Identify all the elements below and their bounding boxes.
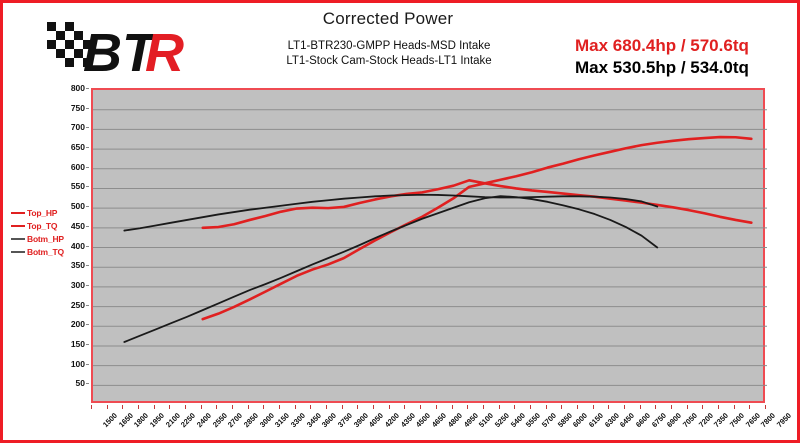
x-tick-mark bbox=[420, 405, 421, 409]
x-tick-mark bbox=[749, 405, 750, 409]
x-tick-mark bbox=[655, 405, 656, 409]
plot-area bbox=[91, 88, 765, 403]
x-tick-mark bbox=[530, 405, 531, 409]
x-tick-label: 3300 bbox=[289, 411, 307, 429]
x-tick-mark bbox=[452, 405, 453, 409]
x-tick-label: 2400 bbox=[195, 411, 213, 429]
x-tick-label: 2700 bbox=[226, 411, 244, 429]
subtitle-line-1: LT1-BTR230-GMPP Heads-MSD Intake bbox=[249, 39, 529, 54]
x-tick-label: 5850 bbox=[555, 411, 573, 429]
x-tick-label: 7050 bbox=[681, 411, 699, 429]
x-tick-label: 6450 bbox=[618, 411, 636, 429]
x-tick-label: 4350 bbox=[399, 411, 417, 429]
y-tick-label: 200 bbox=[71, 319, 85, 329]
x-tick-mark bbox=[561, 405, 562, 409]
x-tick-label: 7950 bbox=[775, 411, 793, 429]
series-botm_tq bbox=[124, 195, 657, 231]
x-axis: 1500165018001950210022502400255027002850… bbox=[91, 405, 765, 443]
x-tick-label: 1950 bbox=[148, 411, 166, 429]
y-tick-mark bbox=[86, 364, 89, 365]
x-tick-mark bbox=[91, 405, 92, 409]
x-tick-label: 6300 bbox=[602, 411, 620, 429]
y-tick-mark bbox=[86, 88, 89, 89]
x-tick-mark bbox=[404, 405, 405, 409]
x-tick-mark bbox=[640, 405, 641, 409]
x-tick-mark bbox=[169, 405, 170, 409]
x-tick-label: 5400 bbox=[508, 411, 526, 429]
x-tick-mark bbox=[138, 405, 139, 409]
x-tick-mark bbox=[357, 405, 358, 409]
x-tick-mark bbox=[546, 405, 547, 409]
y-tick-mark bbox=[86, 167, 89, 168]
x-tick-label: 7200 bbox=[697, 411, 715, 429]
x-tick-label: 1650 bbox=[117, 411, 135, 429]
chart-subtitle: LT1-BTR230-GMPP Heads-MSD Intake LT1-Sto… bbox=[249, 39, 529, 69]
x-tick-label: 5100 bbox=[477, 411, 495, 429]
x-tick-label: 6750 bbox=[649, 411, 667, 429]
max-readouts: Max 680.4hp / 570.6tq Max 530.5hp / 534.… bbox=[575, 35, 749, 79]
legend-swatch-top-tq bbox=[11, 225, 25, 227]
y-tick-label: 400 bbox=[71, 241, 85, 251]
x-tick-mark bbox=[687, 405, 688, 409]
x-tick-label: 4200 bbox=[383, 411, 401, 429]
legend-swatch-botm-tq bbox=[11, 251, 25, 253]
series-botm_hp bbox=[124, 196, 657, 342]
y-tick-label: 500 bbox=[71, 201, 85, 211]
x-tick-mark bbox=[718, 405, 719, 409]
x-tick-label: 3450 bbox=[305, 411, 323, 429]
x-tick-mark bbox=[248, 405, 249, 409]
x-tick-mark bbox=[593, 405, 594, 409]
x-tick-label: 4800 bbox=[446, 411, 464, 429]
x-tick-label: 6600 bbox=[634, 411, 652, 429]
x-tick-mark bbox=[107, 405, 108, 409]
plot-frame bbox=[91, 88, 765, 403]
x-tick-label: 2100 bbox=[164, 411, 182, 429]
x-tick-label: 5550 bbox=[524, 411, 542, 429]
x-tick-mark bbox=[310, 405, 311, 409]
data-curves bbox=[93, 90, 767, 405]
y-tick-label: 600 bbox=[71, 162, 85, 172]
x-tick-label: 6150 bbox=[587, 411, 605, 429]
x-tick-label: 5700 bbox=[540, 411, 558, 429]
x-tick-mark bbox=[326, 405, 327, 409]
x-tick-mark bbox=[734, 405, 735, 409]
x-tick-mark bbox=[295, 405, 296, 409]
y-tick-label: 100 bbox=[71, 359, 85, 369]
y-tick-mark bbox=[86, 383, 89, 384]
y-tick-label: 550 bbox=[71, 181, 85, 191]
x-tick-label: 1500 bbox=[101, 411, 119, 429]
x-tick-mark bbox=[483, 405, 484, 409]
y-tick-label: 250 bbox=[71, 300, 85, 310]
legend-label-top-hp: Top_HP bbox=[27, 208, 57, 218]
x-tick-mark bbox=[389, 405, 390, 409]
x-tick-label: 6900 bbox=[665, 411, 683, 429]
x-tick-label: 4500 bbox=[414, 411, 432, 429]
y-tick-mark bbox=[86, 127, 89, 128]
dyno-chart-page: BT R Corrected Power LT1-BTR230-GMPP Hea… bbox=[0, 0, 800, 443]
y-tick-label: 650 bbox=[71, 142, 85, 152]
x-tick-label: 4050 bbox=[367, 411, 385, 429]
x-tick-mark bbox=[185, 405, 186, 409]
legend-swatch-top-hp bbox=[11, 212, 25, 214]
x-tick-mark bbox=[373, 405, 374, 409]
y-tick-label: 450 bbox=[71, 221, 85, 231]
x-tick-label: 1800 bbox=[132, 411, 150, 429]
x-tick-label: 2250 bbox=[179, 411, 197, 429]
x-tick-label: 4950 bbox=[461, 411, 479, 429]
y-tick-label: 300 bbox=[71, 280, 85, 290]
y-tick-mark bbox=[86, 324, 89, 325]
y-tick-label: 350 bbox=[71, 260, 85, 270]
x-tick-mark bbox=[608, 405, 609, 409]
x-tick-mark bbox=[577, 405, 578, 409]
y-tick-label: 700 bbox=[71, 122, 85, 132]
x-tick-label: 7350 bbox=[712, 411, 730, 429]
y-tick-mark bbox=[86, 226, 89, 227]
y-tick-mark bbox=[86, 147, 89, 148]
x-tick-label: 3750 bbox=[336, 411, 354, 429]
x-tick-label: 7500 bbox=[728, 411, 746, 429]
y-tick-label: 750 bbox=[71, 103, 85, 113]
x-tick-mark bbox=[279, 405, 280, 409]
x-tick-mark bbox=[499, 405, 500, 409]
x-tick-mark bbox=[122, 405, 123, 409]
x-tick-label: 6000 bbox=[571, 411, 589, 429]
max-bottom-readout: Max 530.5hp / 534.0tq bbox=[575, 57, 749, 79]
series-top_hp bbox=[203, 137, 752, 319]
x-tick-label: 4650 bbox=[430, 411, 448, 429]
x-tick-mark bbox=[201, 405, 202, 409]
btr-logo-graphic: BT R bbox=[41, 13, 189, 81]
x-tick-label: 7800 bbox=[759, 411, 777, 429]
x-tick-label: 7650 bbox=[744, 411, 762, 429]
x-tick-label: 5250 bbox=[493, 411, 511, 429]
y-tick-mark bbox=[86, 344, 89, 345]
y-tick-label: 800 bbox=[71, 83, 85, 93]
x-tick-mark bbox=[342, 405, 343, 409]
legend-label-top-tq: Top_TQ bbox=[27, 221, 57, 231]
x-tick-label: 2850 bbox=[242, 411, 260, 429]
y-tick-mark bbox=[86, 108, 89, 109]
x-tick-mark bbox=[702, 405, 703, 409]
x-tick-mark bbox=[216, 405, 217, 409]
x-tick-label: 2550 bbox=[211, 411, 229, 429]
x-tick-mark bbox=[263, 405, 264, 409]
series-top_tq bbox=[203, 180, 752, 227]
btr-logo: BT R bbox=[41, 13, 189, 81]
x-tick-mark bbox=[514, 405, 515, 409]
y-tick-mark bbox=[86, 186, 89, 187]
y-tick-mark bbox=[86, 305, 89, 306]
x-tick-mark bbox=[232, 405, 233, 409]
x-tick-mark bbox=[765, 405, 766, 409]
x-tick-label: 3900 bbox=[352, 411, 370, 429]
y-tick-mark bbox=[86, 246, 89, 247]
y-tick-mark bbox=[86, 265, 89, 266]
x-tick-label: 3000 bbox=[258, 411, 276, 429]
page-title: Corrected Power bbox=[253, 9, 523, 29]
y-tick-label: 50 bbox=[76, 378, 85, 388]
x-tick-mark bbox=[671, 405, 672, 409]
y-axis: 5010015020025030035040045050055060065070… bbox=[55, 88, 89, 403]
y-tick-mark bbox=[86, 285, 89, 286]
subtitle-line-2: LT1-Stock Cam-Stock Heads-LT1 Intake bbox=[249, 54, 529, 69]
x-tick-mark bbox=[624, 405, 625, 409]
x-tick-mark bbox=[436, 405, 437, 409]
legend-swatch-botm-hp bbox=[11, 238, 25, 240]
max-top-readout: Max 680.4hp / 570.6tq bbox=[575, 35, 749, 57]
x-tick-mark bbox=[467, 405, 468, 409]
x-tick-label: 3150 bbox=[273, 411, 291, 429]
x-tick-mark bbox=[154, 405, 155, 409]
y-tick-mark bbox=[86, 206, 89, 207]
x-tick-label: 3600 bbox=[320, 411, 338, 429]
svg-text:R: R bbox=[145, 23, 184, 81]
y-tick-label: 150 bbox=[71, 339, 85, 349]
